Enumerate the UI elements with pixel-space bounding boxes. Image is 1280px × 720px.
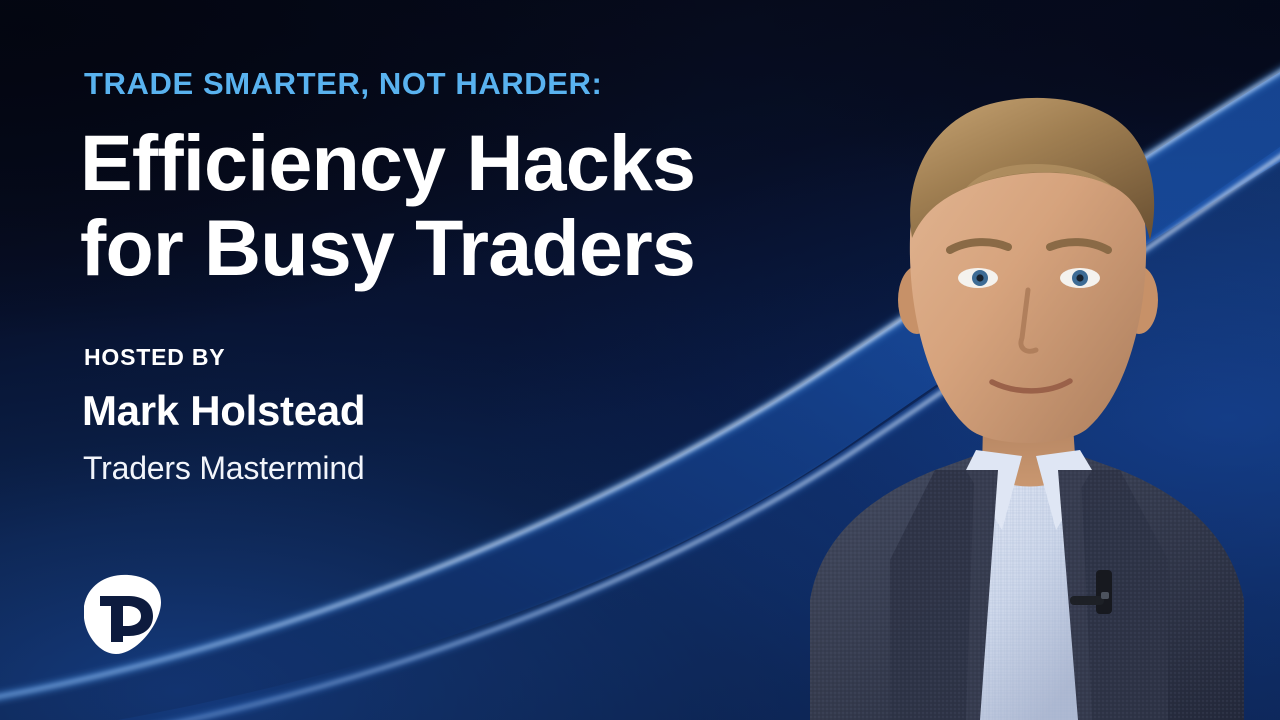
pupil-right xyxy=(1076,274,1083,281)
title-card: TRADE SMARTER, NOT HARDER: Efficiency Ha… xyxy=(0,0,1280,720)
hosted-by-label: HOSTED BY xyxy=(84,346,225,369)
host-org-text: Traders Mastermind xyxy=(83,452,365,484)
brand-logo xyxy=(72,566,166,660)
host-portrait xyxy=(770,0,1280,720)
pupil-left xyxy=(976,274,983,281)
text-content: TRADE SMARTER, NOT HARDER: Efficiency Ha… xyxy=(84,0,844,720)
paperclip-p-logo-icon xyxy=(72,566,166,660)
host-name-text: Mark Holstead xyxy=(82,390,365,432)
headline-text: Efficiency Hacks for Busy Traders xyxy=(80,120,695,291)
eyebrow-text: TRADE SMARTER, NOT HARDER: xyxy=(84,68,602,99)
